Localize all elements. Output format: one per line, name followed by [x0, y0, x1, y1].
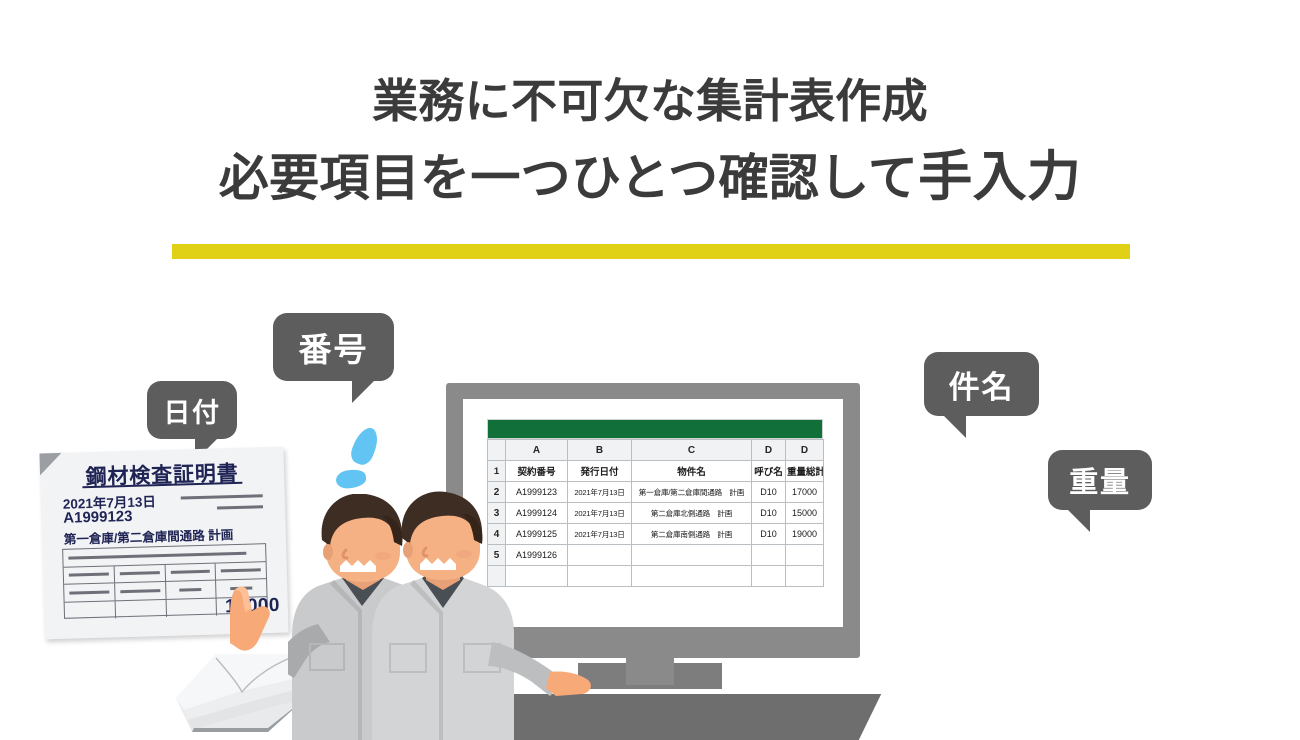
spreadsheet-cell[interactable]: 物件名 [632, 461, 752, 482]
spreadsheet-cell[interactable]: D10 [752, 482, 786, 503]
title-underline-accent-bar [172, 244, 1130, 259]
spreadsheet-cell[interactable]: 19000 [786, 524, 824, 545]
spreadsheet-cell[interactable]: 15000 [786, 503, 824, 524]
spreadsheet-row-number[interactable]: 1 [488, 461, 506, 482]
certificate-table-cell [114, 564, 165, 582]
worker-person-icon [364, 490, 594, 740]
spreadsheet-cell[interactable]: 発行日付 [568, 461, 632, 482]
spreadsheet-cell[interactable] [632, 545, 752, 566]
placeholder-line [68, 551, 246, 559]
spreadsheet-cell[interactable] [752, 545, 786, 566]
spreadsheet-cell[interactable]: D10 [752, 524, 786, 545]
sweat-drop-icon [335, 468, 367, 490]
sweat-drop-icon [348, 424, 383, 467]
certificate-contract-number: A1999123 [63, 508, 133, 527]
certificate-table-cell [166, 581, 217, 599]
spreadsheet-row: 1契約番号発行日付物件名呼び名重量総計 [488, 461, 824, 482]
certificate-table-cell [165, 563, 216, 581]
bubble-tail-icon [352, 377, 378, 403]
certificate-table-cell [166, 598, 217, 617]
spreadsheet-cell[interactable] [786, 545, 824, 566]
spreadsheet-corner-cell[interactable] [488, 440, 506, 461]
placeholder-line [221, 568, 261, 572]
callout-bubble-number-label: 番号 [299, 323, 369, 371]
pointing-hand-icon [228, 583, 272, 653]
callout-bubble-title-label: 件名 [949, 362, 1015, 407]
headline-line-2-normal: 必要項目を一つひとつ確認して [219, 150, 918, 206]
certificate-table-cell [64, 583, 115, 601]
spreadsheet-column-header-A[interactable]: A [506, 440, 568, 461]
certificate-table-cell [115, 582, 166, 600]
spreadsheet-column-header-D[interactable]: D [752, 440, 786, 461]
headline-emphasis: 手入力 [918, 147, 1081, 207]
certificate-title: 鋼材検査証明書 [40, 456, 285, 493]
spreadsheet-cell[interactable] [632, 566, 752, 587]
placeholder-line [69, 590, 109, 594]
callout-bubble-date-label: 日付 [163, 391, 220, 430]
spreadsheet-header-bar [487, 419, 823, 439]
spreadsheet-cell[interactable]: D10 [752, 503, 786, 524]
spreadsheet-cell[interactable]: 重量総計 [786, 461, 824, 482]
headline-line-1: 業務に不可欠な集計表作成 [0, 72, 1300, 131]
placeholder-line [180, 587, 202, 591]
certificate-placeholder-rule [217, 505, 263, 509]
callout-bubble-number: 番号 [273, 313, 394, 381]
spreadsheet-cell[interactable] [786, 566, 824, 587]
callout-bubble-date: 日付 [147, 381, 237, 439]
spreadsheet-column-header-D[interactable]: D [786, 440, 824, 461]
certificate-table-cell [216, 562, 266, 580]
placeholder-line [120, 589, 160, 593]
spreadsheet-cell[interactable]: 契約番号 [506, 461, 568, 482]
spreadsheet-cell[interactable]: 呼び名 [752, 461, 786, 482]
callout-bubble-weight-label: 重量 [1069, 459, 1130, 501]
headline-line-2: 必要項目を一つひとつ確認して手入力 [0, 143, 1300, 212]
spreadsheet-column-header-row: ABCDD [488, 440, 824, 461]
monitor-stand-neck [626, 655, 674, 685]
page-title: 業務に不可欠な集計表作成 必要項目を一つひとつ確認して手入力 [0, 72, 1300, 212]
spreadsheet-cell[interactable]: 第二倉庫南側通路 計画 [632, 524, 752, 545]
spreadsheet-cell[interactable]: 第二倉庫北側通路 計画 [632, 503, 752, 524]
certificate-table-cell [65, 601, 116, 620]
slide-canvas: 業務に不可欠な集計表作成 必要項目を一つひとつ確認して手入力 日付 番号 件名 … [0, 0, 1300, 740]
certificate-table-cell [64, 566, 115, 584]
certificate-placeholder-rule [181, 494, 263, 499]
spreadsheet-column-header-B[interactable]: B [568, 440, 632, 461]
spreadsheet-cell[interactable] [752, 566, 786, 587]
bubble-tail-icon [1064, 506, 1090, 532]
callout-bubble-weight: 重量 [1048, 450, 1152, 510]
spreadsheet-cell[interactable]: 17000 [786, 482, 824, 503]
certificate-table-cell [115, 599, 166, 618]
placeholder-line [170, 570, 210, 574]
callout-bubble-title: 件名 [924, 352, 1039, 416]
placeholder-line [69, 573, 109, 577]
spreadsheet-cell[interactable]: 第一倉庫/第二倉庫間通路 計画 [632, 482, 752, 503]
bubble-tail-icon [940, 412, 966, 438]
spreadsheet-column-header-C[interactable]: C [632, 440, 752, 461]
placeholder-line [120, 571, 160, 575]
